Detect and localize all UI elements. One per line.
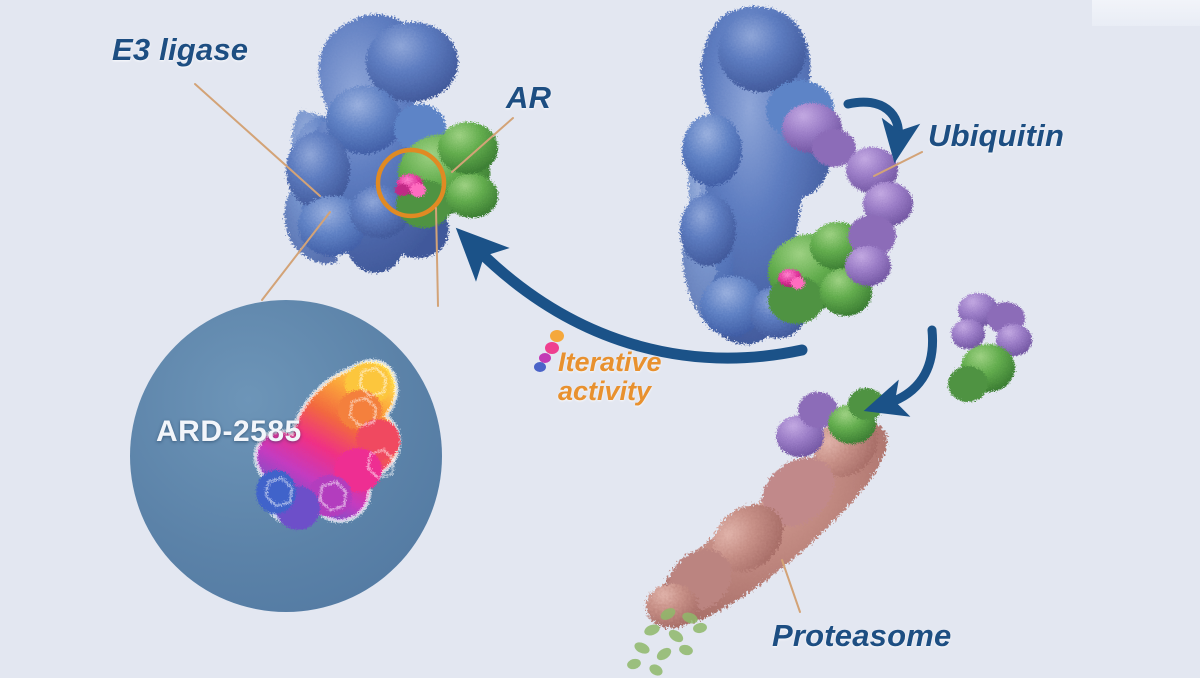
label-iterative-line1: Iterative — [558, 348, 662, 377]
leader-ar — [452, 118, 513, 172]
leader-e3-ligase — [195, 84, 320, 196]
arrow-to-proteasome — [886, 330, 933, 404]
label-proteasome: Proteasome — [772, 618, 951, 654]
label-ar: AR — [506, 80, 551, 116]
label-ubiquitin: Ubiquitin — [928, 118, 1064, 154]
label-iterative-activity: Iterative activity — [558, 348, 662, 406]
label-ard-2585: ARD-2585 — [156, 415, 302, 449]
label-iterative-line2: activity — [558, 377, 662, 406]
leader-inset-callout-left — [262, 212, 330, 300]
leader-inset-callout-right — [436, 208, 438, 306]
label-e3-ligase: E3 ligase — [112, 32, 248, 68]
leader-ubiquitin — [874, 152, 922, 176]
figure-canvas: E3 ligase AR Ubiquitin Proteasome Iterat… — [0, 0, 1200, 678]
annotation-layer — [0, 0, 1200, 678]
arrow-ubiquitin-transfer — [848, 102, 899, 140]
leader-proteasome — [782, 560, 800, 612]
arrow-iterative-recycle — [476, 248, 802, 358]
